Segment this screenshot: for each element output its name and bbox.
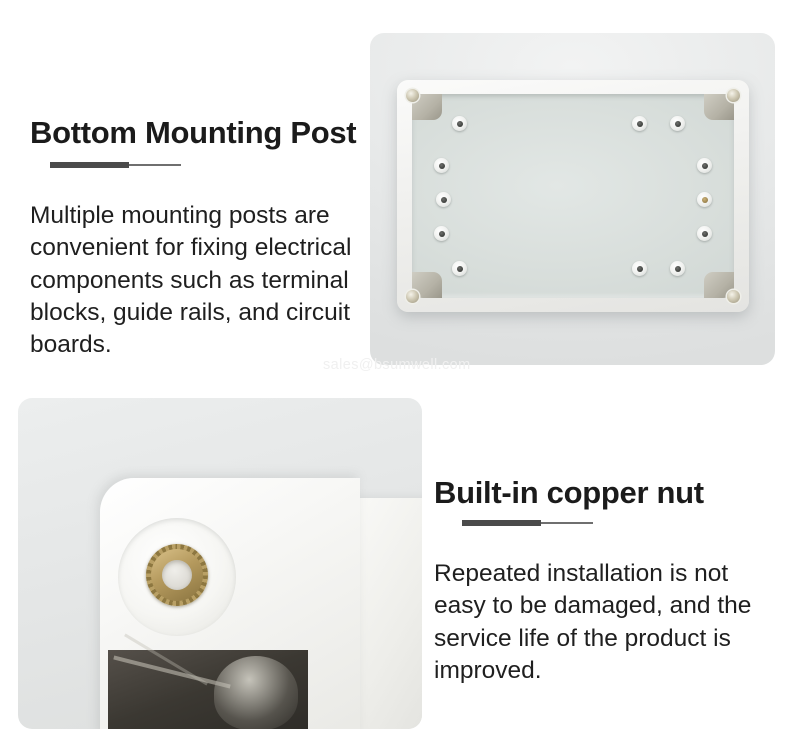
enclosure-cavity (412, 94, 734, 298)
divider-bar (462, 520, 541, 526)
mounting-post (452, 261, 467, 276)
enclosure-interior-photo (370, 33, 775, 365)
divider-bar (50, 162, 129, 168)
recessed-slot (108, 650, 308, 729)
mounting-post (452, 116, 467, 131)
feature-divider-2 (462, 519, 593, 527)
mounting-post (670, 261, 685, 276)
divider-tail (129, 164, 181, 166)
mounting-post (436, 192, 451, 207)
copper-nut-photo (18, 398, 422, 729)
mounting-post (697, 158, 712, 173)
feature-body-text: Multiple mounting posts are convenient f… (30, 200, 422, 362)
mounting-post (697, 192, 712, 207)
corner-screw-bottom-right (727, 290, 740, 303)
mounting-post (434, 158, 449, 173)
mounting-post (697, 226, 712, 241)
corner-screw-top-right (727, 89, 740, 102)
feature-body-bottom-mounting-post: Multiple mounting posts are convenient f… (30, 200, 422, 362)
enclosure-body (397, 80, 749, 312)
feature-divider-1 (50, 161, 181, 169)
mounting-post (632, 261, 647, 276)
copper-nut-insert (146, 544, 208, 606)
mounting-post (434, 226, 449, 241)
feature-body-built-in-copper-nut: Repeated installation is not easy to be … (434, 558, 784, 687)
corner-screw-top-left (406, 89, 419, 102)
mounting-post (670, 116, 685, 131)
feature-heading-bottom-mounting-post: Bottom Mounting Post (30, 116, 356, 150)
feature-body-text: Repeated installation is not easy to be … (434, 558, 784, 687)
mounting-post (632, 116, 647, 131)
divider-tail (541, 522, 593, 524)
feature-heading-built-in-copper-nut: Built-in copper nut (434, 476, 704, 510)
watermark-email: sales@bsumwell.com (323, 357, 471, 373)
slot-gleam (214, 656, 298, 729)
